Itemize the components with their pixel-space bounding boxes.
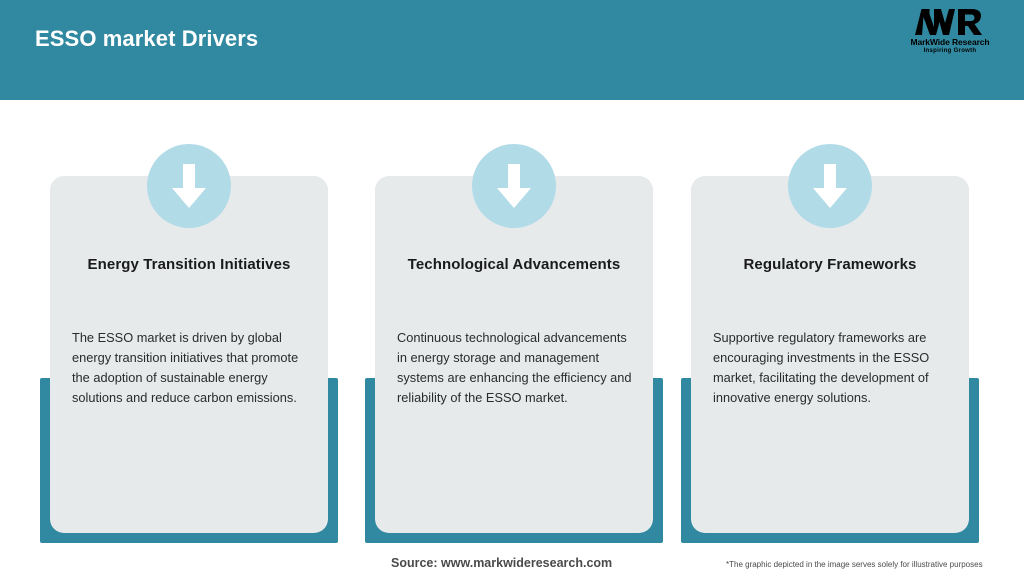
card-title: Regulatory Frameworks	[691, 256, 969, 273]
card-body-text: Continuous technological advancements in…	[397, 328, 635, 408]
driver-card-2: Technological Advancements Continuous te…	[361, 144, 667, 544]
brand-logo: MarkWide Research Inspiring Growth	[898, 8, 1002, 62]
disclaimer-label: *The graphic depicted in the image serve…	[726, 560, 983, 569]
page-title: ESSO market Drivers	[35, 26, 258, 52]
logo-tagline: Inspiring Growth	[898, 47, 1002, 55]
mwr-monogram-icon	[914, 8, 986, 36]
card-body-text: Supportive regulatory frameworks are enc…	[713, 328, 951, 408]
down-arrow-icon	[472, 144, 556, 228]
card-surface: Regulatory Frameworks Supportive regulat…	[691, 176, 969, 533]
card-surface: Technological Advancements Continuous te…	[375, 176, 653, 533]
driver-card-1: Energy Transition Initiatives The ESSO m…	[36, 144, 342, 544]
down-arrow-glyph	[494, 162, 534, 210]
driver-card-3: Regulatory Frameworks Supportive regulat…	[677, 144, 983, 544]
drivers-card-group: Energy Transition Initiatives The ESSO m…	[0, 100, 1024, 545]
card-title: Technological Advancements	[375, 256, 653, 273]
card-surface: Energy Transition Initiatives The ESSO m…	[50, 176, 328, 533]
down-arrow-glyph	[169, 162, 209, 210]
slide-canvas: ESSO market Drivers MarkWide Research In…	[0, 0, 1024, 576]
source-label: Source: www.markwideresearch.com	[391, 556, 612, 570]
logo-company-name: MarkWide Research	[898, 37, 1002, 47]
down-arrow-glyph	[810, 162, 850, 210]
card-title: Energy Transition Initiatives	[50, 256, 328, 273]
down-arrow-icon	[147, 144, 231, 228]
header-band: ESSO market Drivers MarkWide Research In…	[0, 0, 1024, 100]
card-body-text: The ESSO market is driven by global ener…	[72, 328, 310, 408]
down-arrow-icon	[788, 144, 872, 228]
